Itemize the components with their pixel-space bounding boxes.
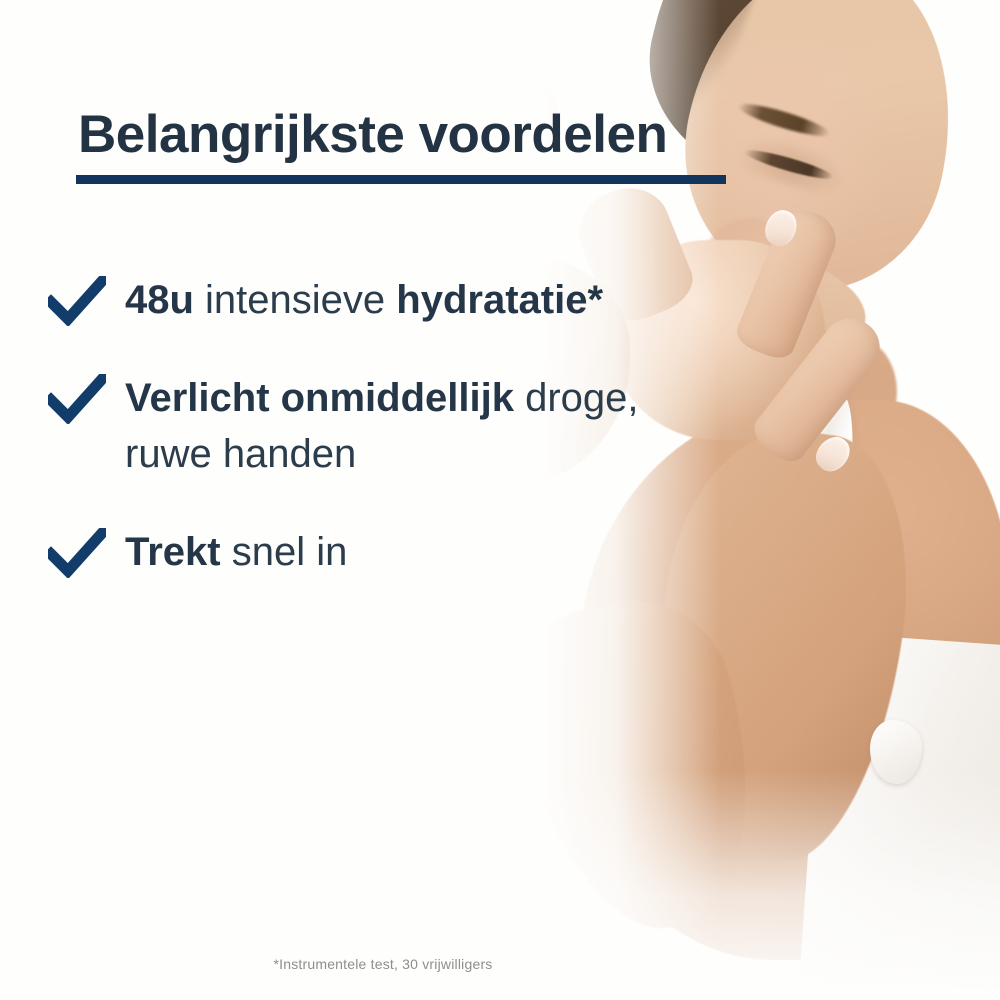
benefit-2-bold-1: Verlicht onmiddellijk xyxy=(125,376,525,420)
title-underline-rule xyxy=(76,175,726,184)
benefit-item-1: 48u intensieve hydratatie* xyxy=(0,272,760,328)
fingernail xyxy=(760,206,801,251)
benefit-item-2: Verlicht onmiddellijk droge, ruwe handen xyxy=(0,370,760,482)
benefit-1-bold-2: hydratatie* xyxy=(396,278,603,322)
benefit-item-3: Trekt snel in xyxy=(0,524,760,580)
benefit-1-regular-1: intensieve xyxy=(205,278,396,322)
check-icon xyxy=(48,276,106,326)
page-title: Belangrijkste voordelen xyxy=(78,104,667,165)
benefit-text-3: Trekt snel in xyxy=(106,524,347,580)
cream-dollop xyxy=(870,720,922,784)
footnote-text: *Instrumentele test, 30 vrijwilligers xyxy=(0,956,766,972)
benefit-3-regular-1: snel in xyxy=(232,530,348,574)
white-top xyxy=(797,632,1000,1000)
check-icon xyxy=(48,374,106,424)
copy-block: Belangrijkste voordelen 48u intensieve h… xyxy=(0,0,760,1000)
benefit-3-bold-1: Trekt xyxy=(125,530,232,574)
finger xyxy=(747,307,891,469)
benefit-text-2: Verlicht onmiddellijk droge, ruwe handen xyxy=(106,370,706,482)
check-icon xyxy=(48,528,106,578)
tank-top-strap xyxy=(762,387,866,692)
promo-canvas: Belangrijkste voordelen 48u intensieve h… xyxy=(0,0,1000,1000)
fingernail xyxy=(810,431,856,478)
benefit-1-bold-1: 48u xyxy=(125,278,205,322)
benefits-list: 48u intensieve hydratatie* Verlicht onmi… xyxy=(0,272,760,622)
benefit-text-1: 48u intensieve hydratatie* xyxy=(106,272,603,328)
